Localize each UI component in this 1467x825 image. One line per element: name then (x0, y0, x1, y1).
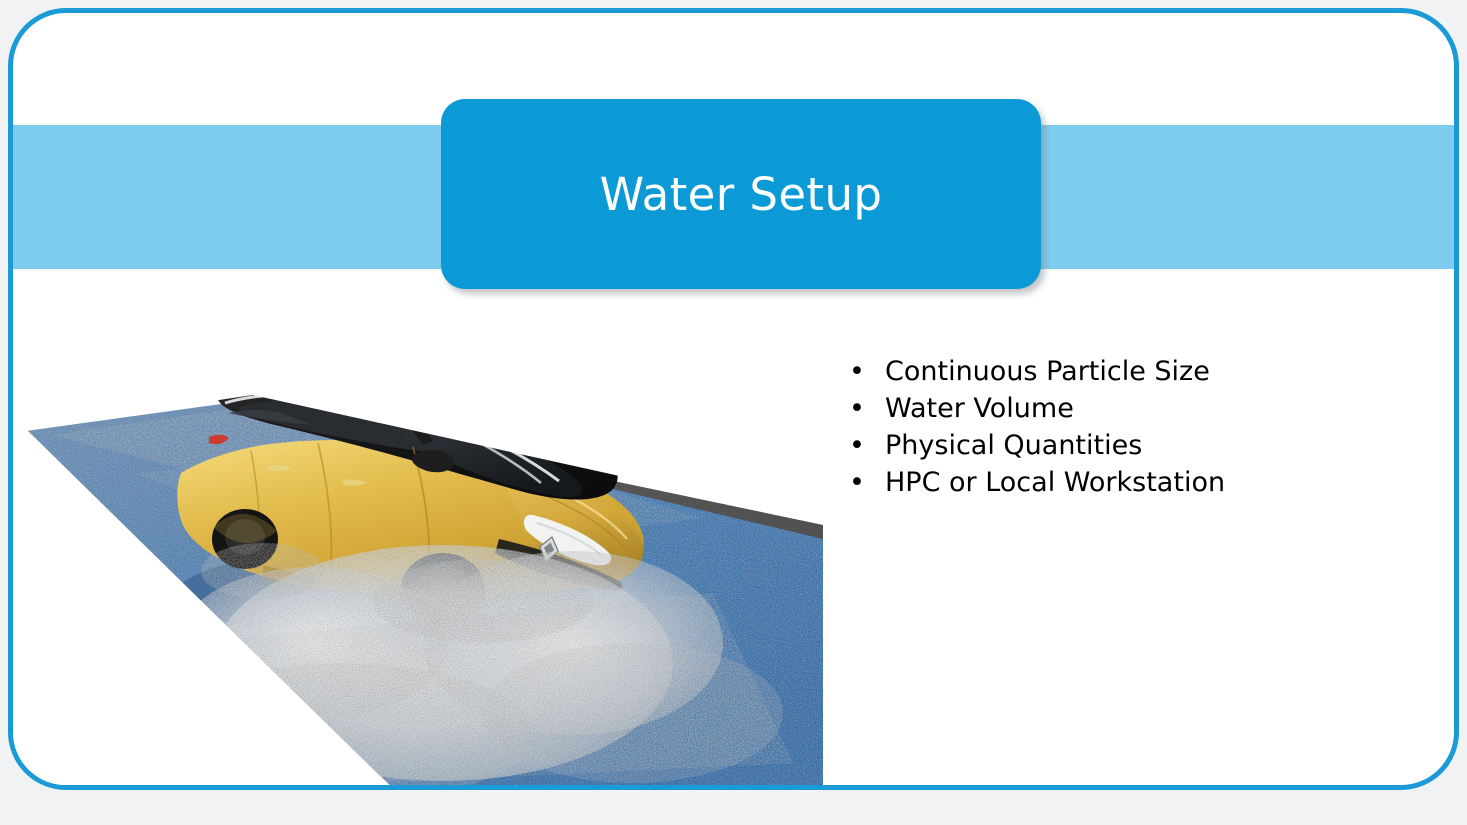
bullet-marker-icon: • (839, 464, 885, 501)
bullet-marker-icon: • (839, 353, 885, 390)
slide-canvas: Water Setup (8, 8, 1459, 790)
page-title: Water Setup (600, 172, 883, 217)
list-item: • HPC or Local Workstation (839, 464, 1399, 501)
list-item: • Continuous Particle Size (839, 353, 1399, 390)
slide-title-plaque: Water Setup (441, 99, 1041, 289)
bullet-marker-icon: • (839, 427, 885, 464)
bullet-label: Water Volume (885, 390, 1074, 427)
simulation-illustration (13, 343, 823, 790)
bullet-list: • Continuous Particle Size • Water Volum… (839, 353, 1399, 501)
list-item: • Physical Quantities (839, 427, 1399, 464)
bullet-marker-icon: • (839, 390, 885, 427)
car-water-simulation-image (13, 343, 823, 790)
bullet-label: Physical Quantities (885, 427, 1142, 464)
bullet-label: Continuous Particle Size (885, 353, 1210, 390)
list-item: • Water Volume (839, 390, 1399, 427)
bullet-label: HPC or Local Workstation (885, 464, 1225, 501)
